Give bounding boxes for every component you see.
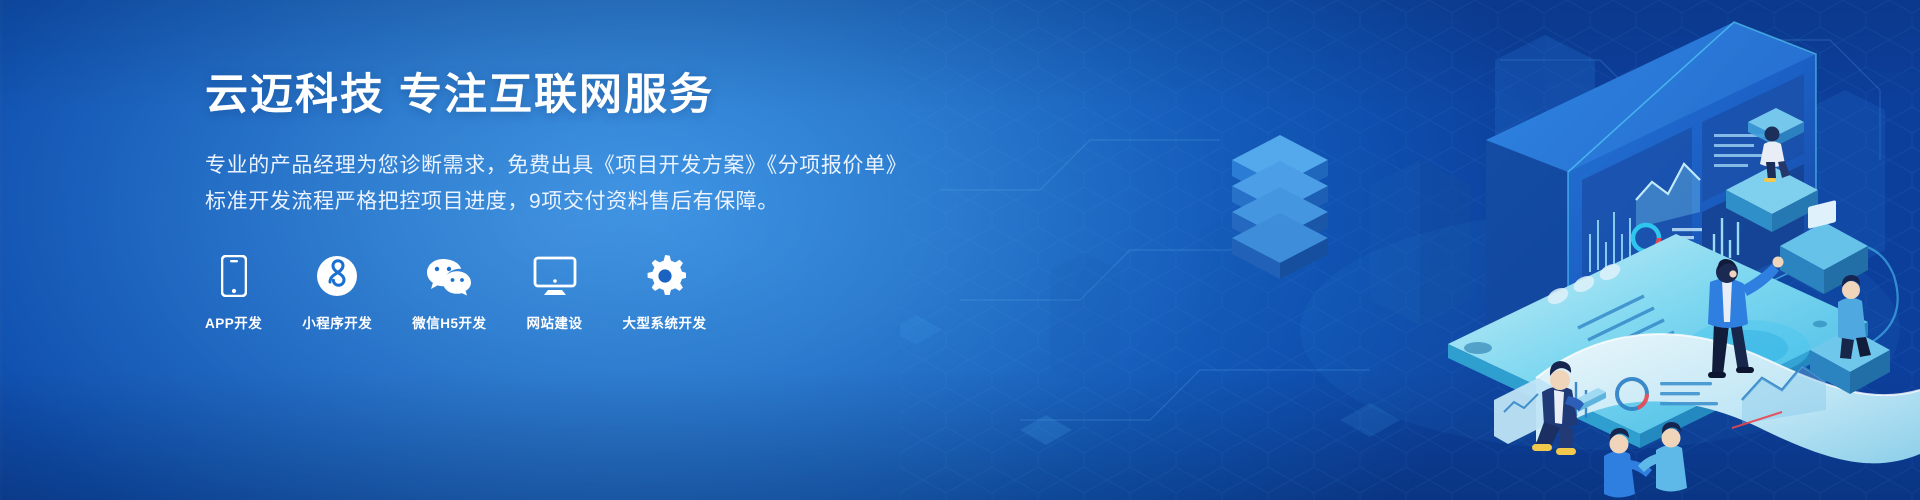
service-item-large-system[interactable]: 大型系统开发: [623, 254, 707, 332]
wechat-icon: [425, 254, 473, 298]
service-list: APP开发 小程序开发: [205, 254, 905, 332]
mini-program-icon: [316, 254, 358, 298]
hero-banner: 云迈科技 专注互联网服务 专业的产品经理为您诊断需求，免费出具《项目开发方案》《…: [0, 0, 1920, 500]
service-label: 大型系统开发: [623, 312, 707, 332]
mobile-phone-icon: [221, 254, 247, 298]
server-stack: [1232, 135, 1328, 279]
service-label: 小程序开发: [302, 312, 372, 332]
subtitle-line-1: 专业的产品经理为您诊断需求，免费出具《项目开发方案》《分项报价单》: [205, 148, 905, 184]
service-item-website[interactable]: 网站建设: [527, 254, 583, 332]
service-item-app[interactable]: APP开发: [205, 254, 262, 332]
subtitle-line-2: 标准开发流程严格把控项目进度，9项交付资料售后有保障。: [205, 184, 905, 220]
service-label: 网站建设: [527, 312, 583, 332]
service-label: 微信H5开发: [412, 312, 486, 332]
monitor-icon: [533, 254, 577, 298]
banner-content: 云迈科技 专注互联网服务 专业的产品经理为您诊断需求，免费出具《项目开发方案》《…: [205, 70, 905, 332]
page-title: 云迈科技 专注互联网服务: [205, 70, 905, 122]
isometric-tech-illustration: [900, 0, 1920, 500]
service-item-wechat-h5[interactable]: 微信H5开发: [412, 254, 486, 332]
service-item-miniprogram[interactable]: 小程序开发: [302, 254, 372, 332]
gear-icon: [644, 254, 686, 298]
service-label: APP开发: [205, 312, 262, 332]
